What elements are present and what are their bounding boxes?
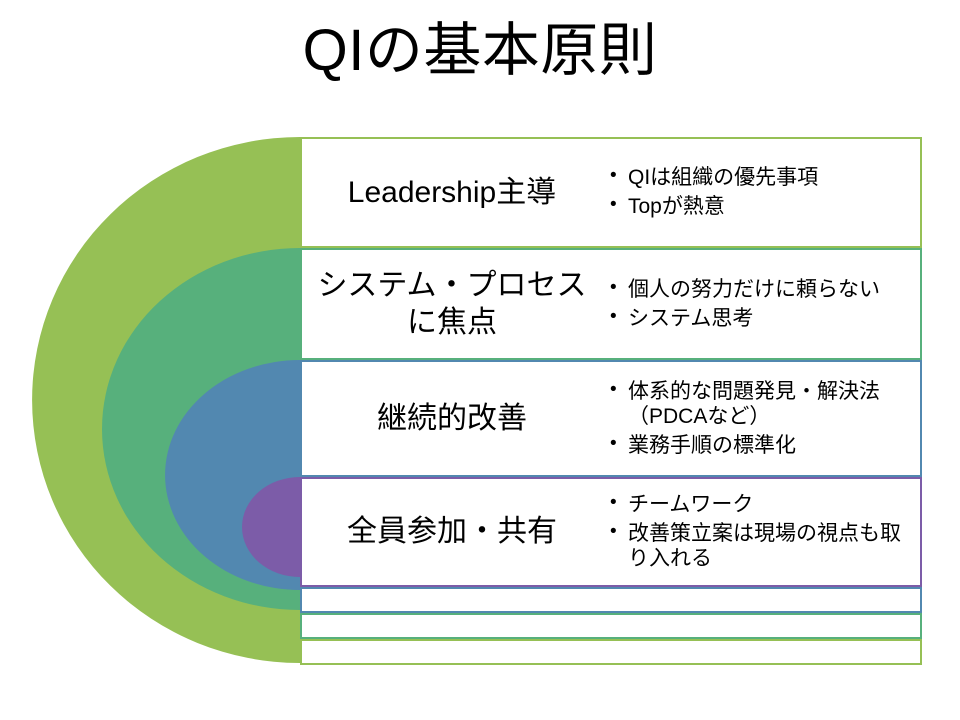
list-item: 個人の努力だけに頼らない	[626, 277, 914, 303]
ring-layer-blue	[165, 360, 300, 590]
row-bullets: QIは組織の優先事項 Topが熱意	[602, 165, 920, 219]
row-label: Leadership主導	[302, 174, 602, 212]
table-row-spacer	[300, 587, 922, 613]
list-item: システム思考	[626, 306, 914, 332]
slide-canvas: QIの基本原則 Leadership主導 QIは組織の優先事項 Topが熱意 シ…	[0, 0, 960, 720]
list-item: Topが熱意	[626, 194, 914, 220]
row-label: 継続的改善	[302, 400, 602, 438]
table-row: Leadership主導 QIは組織の優先事項 Topが熱意	[300, 137, 922, 248]
row-bullets: チームワーク 改善策立案は現場の視点も取り入れる	[602, 492, 920, 572]
list-item: チームワーク	[626, 492, 914, 518]
list-item: 業務手順の標準化	[626, 433, 914, 459]
table-row: 全員参加・共有 チームワーク 改善策立案は現場の視点も取り入れる	[300, 477, 922, 587]
table-row-spacer	[300, 639, 922, 665]
row-label: 全員参加・共有	[302, 513, 602, 551]
list-item: 改善策立案は現場の視点も取り入れる	[626, 521, 914, 572]
row-bullets: 個人の努力だけに頼らない システム思考	[602, 277, 920, 331]
page-title: QIの基本原則	[0, 18, 960, 85]
list-item: QIは組織の優先事項	[626, 165, 914, 191]
ring-layer-purple	[242, 477, 300, 577]
table-row: システム・プロセスに焦点 個人の努力だけに頼らない システム思考	[300, 248, 922, 360]
row-label: システム・プロセスに焦点	[302, 267, 602, 342]
list-item: 体系的な問題発見・解決法（PDCAなど）	[626, 379, 914, 430]
table-row: 継続的改善 体系的な問題発見・解決法（PDCAなど） 業務手順の標準化	[300, 360, 922, 477]
table-row-spacer	[300, 613, 922, 639]
ring-layer-teal	[102, 248, 300, 610]
ring-layer-green	[32, 137, 300, 663]
row-bullets: 体系的な問題発見・解決法（PDCAなど） 業務手順の標準化	[602, 379, 920, 459]
